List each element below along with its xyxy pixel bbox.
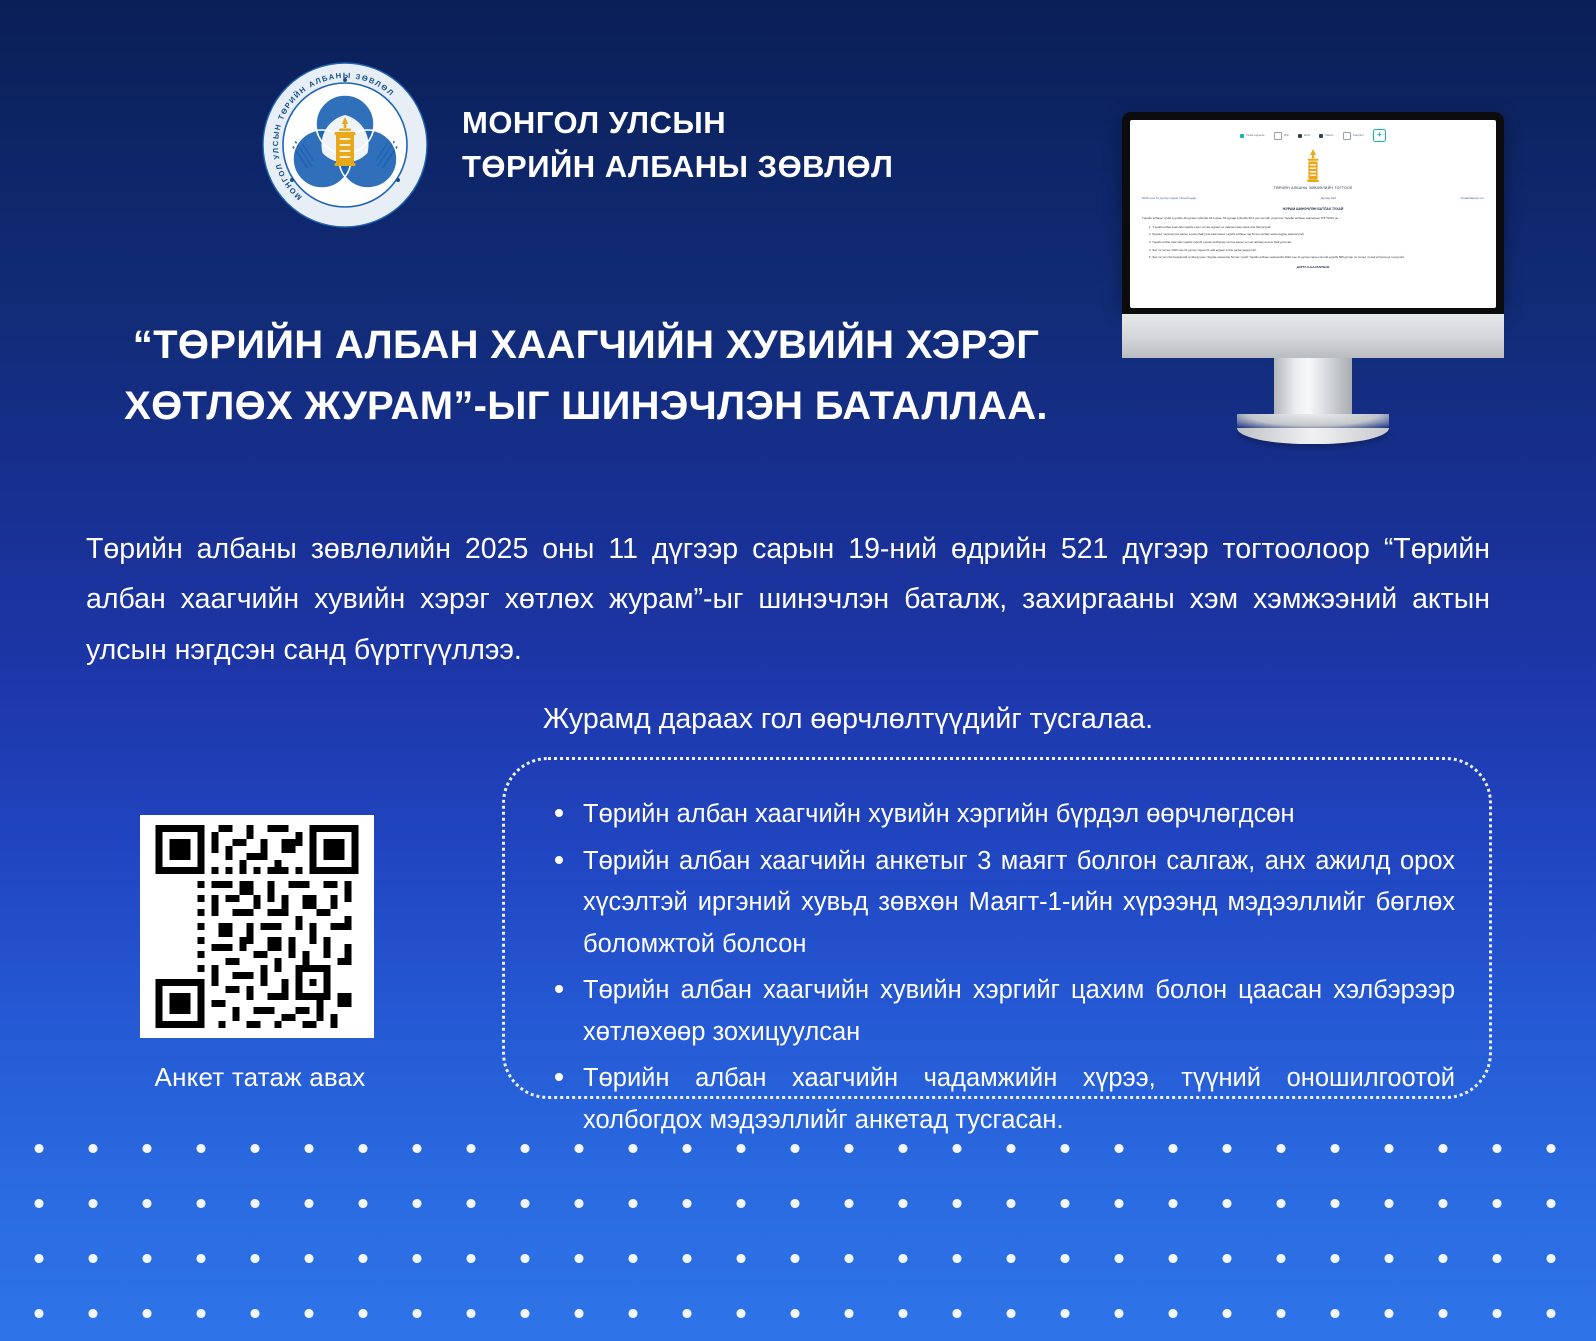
document-item: 1. “Төрийн албан хаагчийн хувийн хэрэг х… bbox=[1149, 225, 1484, 229]
document-item: 5. Энэ тогтоол батлагдсантай холбогдуула… bbox=[1149, 255, 1484, 259]
toolbar-download-label: Татаж хадгалах bbox=[1246, 134, 1265, 137]
document-emblem-icon bbox=[1303, 149, 1323, 183]
document-body: Төрийн албаны тухай хуулийн 18 дугаар зү… bbox=[1142, 216, 1484, 221]
toolbar-word-button[interactable]: Word bbox=[1298, 134, 1310, 138]
document-org-line: ТӨРИЙН АЛБАНЫ ЗӨВЛӨЛИЙН ТОГТООЛ bbox=[1142, 186, 1484, 190]
monitor-stand-neck bbox=[1274, 358, 1352, 416]
decorative-dot-pattern bbox=[0, 1136, 1596, 1341]
header: МОНГОЛ УЛСЫН ТӨРИЙН АЛБАНЫ ЗӨВЛӨЛ bbox=[262, 62, 893, 228]
toolbar-attachment-button[interactable]: Хавсралт bbox=[1343, 132, 1364, 140]
monitor-stand-base bbox=[1237, 428, 1389, 444]
organization-name: МОНГОЛ УЛСЫН ТӨРИЙН АЛБАНЫ ЗӨВЛӨЛ bbox=[462, 101, 893, 189]
document-meta: 2025 оны 11 дүгээр сарын 19-ний өдөр Дуг… bbox=[1142, 196, 1484, 200]
changes-list: Төрийн албан хаагчийн хувийн хэргийн бүр… bbox=[547, 794, 1455, 1142]
printer-icon bbox=[1319, 134, 1323, 138]
document-subject: ЖУРАМ ШИНЭЧЛЭН БАТЛАХ ТУХАЙ bbox=[1142, 207, 1484, 211]
lead-paragraph: Төрийн албаны зөвлөлийн 2025 оны 11 дүгэ… bbox=[86, 524, 1490, 676]
list-item: Төрийн албан хаагчийн хувийн хэргийн бүр… bbox=[547, 794, 1455, 836]
list-item: Төрийн албан хаагчийн хувийн хэргийг цах… bbox=[547, 970, 1455, 1053]
sub-heading: Журамд дараах гол өөрчлөлтүүдийг тусгала… bbox=[86, 697, 1490, 743]
download-icon bbox=[1240, 134, 1244, 138]
toolbar-attachment-label: Хавсралт bbox=[1353, 134, 1364, 137]
qr-code-icon[interactable] bbox=[140, 815, 374, 1038]
organization-logo-icon: МОНГОЛ УЛСЫН ТӨРИЙН АЛБАНЫ ЗӨВЛӨЛ bbox=[262, 62, 428, 228]
document-place: Улаанбаатар хот bbox=[1461, 196, 1484, 200]
changes-callout-box: Төрийн албан хаагчийн хувийн хэргийн бүр… bbox=[502, 757, 1492, 1099]
toolbar-print-label: Хэвлэх bbox=[1325, 134, 1333, 137]
word-icon bbox=[1298, 134, 1302, 138]
list-item: Төрийн албан хаагчийн анкетыг 3 маягт бо… bbox=[547, 841, 1455, 966]
document-item: 4. Энэ тогтоолыг 2026 оны 01 дүгээр сары… bbox=[1149, 248, 1484, 252]
qr-block: Анкет татаж авах bbox=[140, 815, 380, 1093]
toolbar-pdf-button[interactable]: PDF bbox=[1274, 132, 1289, 140]
page-title: “ТӨРИЙН АЛБАН ХААГЧИЙН ХУВИЙН ХЭРЭГ ХӨТЛ… bbox=[86, 315, 1086, 437]
toolbar-pdf-label: PDF bbox=[1284, 134, 1289, 137]
monitor-screen: Татаж хадгалах PDF Word Хэвлэх bbox=[1130, 120, 1496, 308]
monitor-stand-flare bbox=[1237, 414, 1389, 428]
infographic-poster: МОНГОЛ УЛСЫН ТӨРИЙН АЛБАНЫ ЗӨВЛӨЛ bbox=[0, 0, 1596, 1341]
toolbar-download-button[interactable]: Татаж хадгалах bbox=[1240, 134, 1265, 138]
toolbar-word-label: Word bbox=[1304, 134, 1310, 137]
pdf-icon bbox=[1274, 132, 1282, 140]
qr-caption: Анкет татаж авах bbox=[140, 1062, 380, 1093]
document-signature: ДАРГА Б.БААТАРЖАВ bbox=[1142, 265, 1484, 269]
add-button[interactable]: + bbox=[1373, 129, 1386, 142]
document-date: 2025 оны 11 дүгээр сарын 19-ний өдөр bbox=[1142, 196, 1196, 200]
document-item: 3. Төрийн албан хаагчийн хувийн хэргийг … bbox=[1149, 240, 1484, 244]
list-item: Төрийн албан хаагчийн чадамжийн хүрээ, т… bbox=[547, 1058, 1455, 1141]
resolution-document: Татаж хадгалах PDF Word Хэвлэх bbox=[1130, 120, 1496, 269]
computer-monitor-illustration: Татаж хадгалах PDF Word Хэвлэх bbox=[1122, 112, 1504, 444]
monitor-bezel: Татаж хадгалах PDF Word Хэвлэх bbox=[1122, 112, 1504, 308]
attachment-icon bbox=[1343, 132, 1351, 140]
document-item: 2. Журмыг хэрэгжүүлэх ажлыг зохион байгу… bbox=[1149, 232, 1484, 236]
toolbar-print-button[interactable]: Хэвлэх bbox=[1319, 134, 1333, 138]
monitor-chin bbox=[1122, 314, 1504, 358]
document-number: Дугаар 521 bbox=[1321, 196, 1336, 200]
document-toolbar[interactable]: Татаж хадгалах PDF Word Хэвлэх bbox=[1142, 129, 1484, 142]
